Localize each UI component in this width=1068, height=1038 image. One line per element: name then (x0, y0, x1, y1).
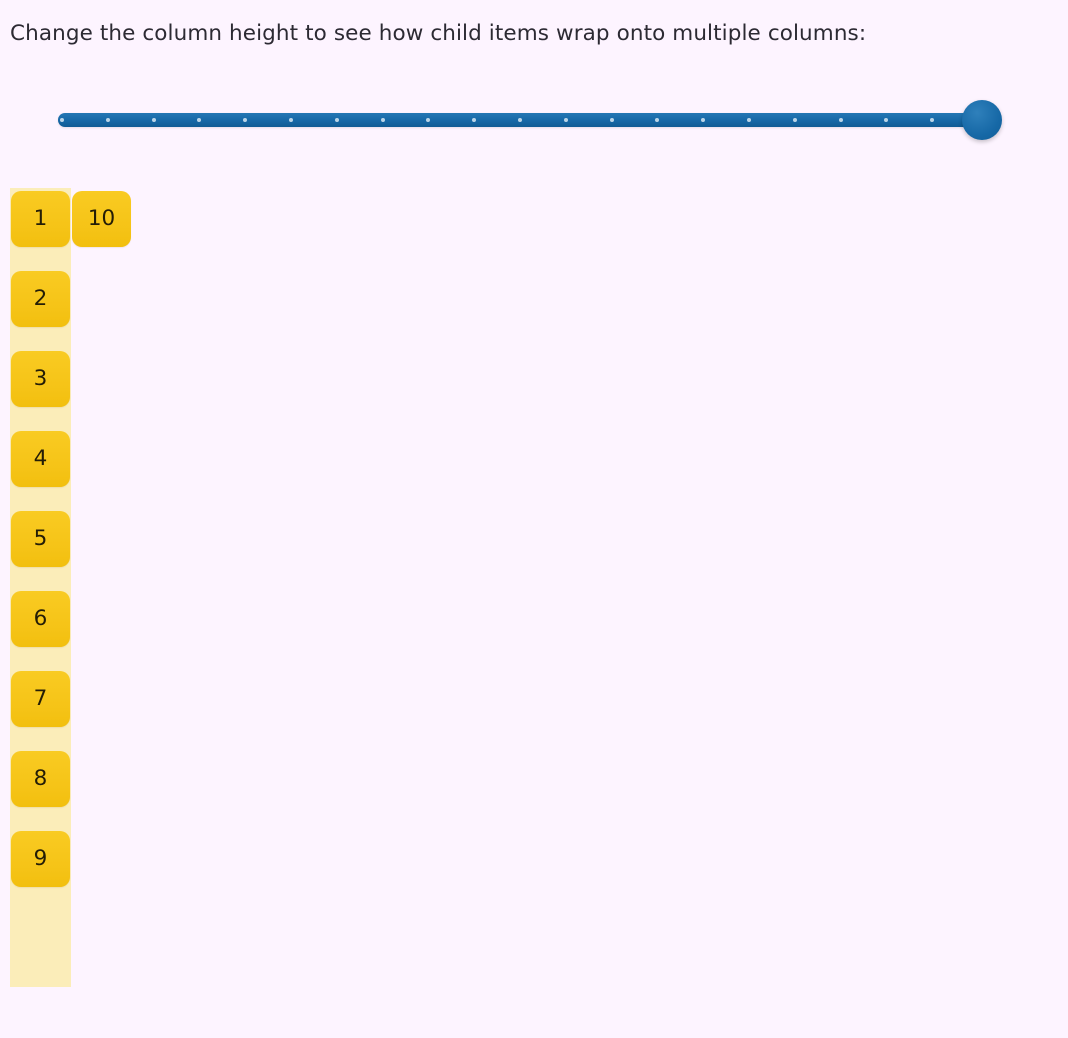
slider-tick (381, 118, 385, 122)
wrapping-items-column: 12345678910 (10, 188, 71, 987)
slider-tick (839, 118, 843, 122)
column-item: 6 (11, 591, 70, 647)
slider-tick (472, 118, 476, 122)
column-item-label: 9 (34, 848, 48, 870)
slider-tick (747, 118, 751, 122)
slider-tick (930, 118, 934, 122)
slider-tick (289, 118, 293, 122)
slider-tick (518, 118, 522, 122)
column-item-label: 1 (34, 208, 48, 230)
slider-tick-marks (58, 113, 982, 127)
column-item-label: 2 (34, 288, 48, 310)
column-item-label: 8 (34, 768, 48, 790)
column-height-slider[interactable] (58, 106, 982, 134)
slider-tick (106, 118, 110, 122)
column-item: 4 (11, 431, 70, 487)
slider-tick (610, 118, 614, 122)
slider-tick (426, 118, 430, 122)
slider-tick (197, 118, 201, 122)
slider-tick (564, 118, 568, 122)
column-item-label: 7 (34, 688, 48, 710)
column-item: 7 (11, 671, 70, 727)
instruction-text: Change the column height to see how chil… (10, 20, 1050, 48)
column-item-label: 5 (34, 528, 48, 550)
slider-tick (884, 118, 888, 122)
column-item: 2 (11, 271, 70, 327)
column-item: 5 (11, 511, 70, 567)
slider-thumb[interactable] (962, 100, 1002, 140)
column-item-label: 3 (34, 368, 48, 390)
column-item: 9 (11, 831, 70, 887)
slider-tick (60, 118, 64, 122)
slider-tick (335, 118, 339, 122)
slider-tick (655, 118, 659, 122)
column-item: 3 (11, 351, 70, 407)
slider-tick (152, 118, 156, 122)
column-item: 8 (11, 751, 70, 807)
column-item-label: 10 (88, 208, 115, 230)
slider-tick (701, 118, 705, 122)
slider-tick (243, 118, 247, 122)
column-item: 10 (72, 191, 131, 247)
column-item-label: 4 (34, 448, 48, 470)
column-item-label: 6 (34, 608, 48, 630)
slider-tick (793, 118, 797, 122)
column-item: 1 (11, 191, 70, 247)
